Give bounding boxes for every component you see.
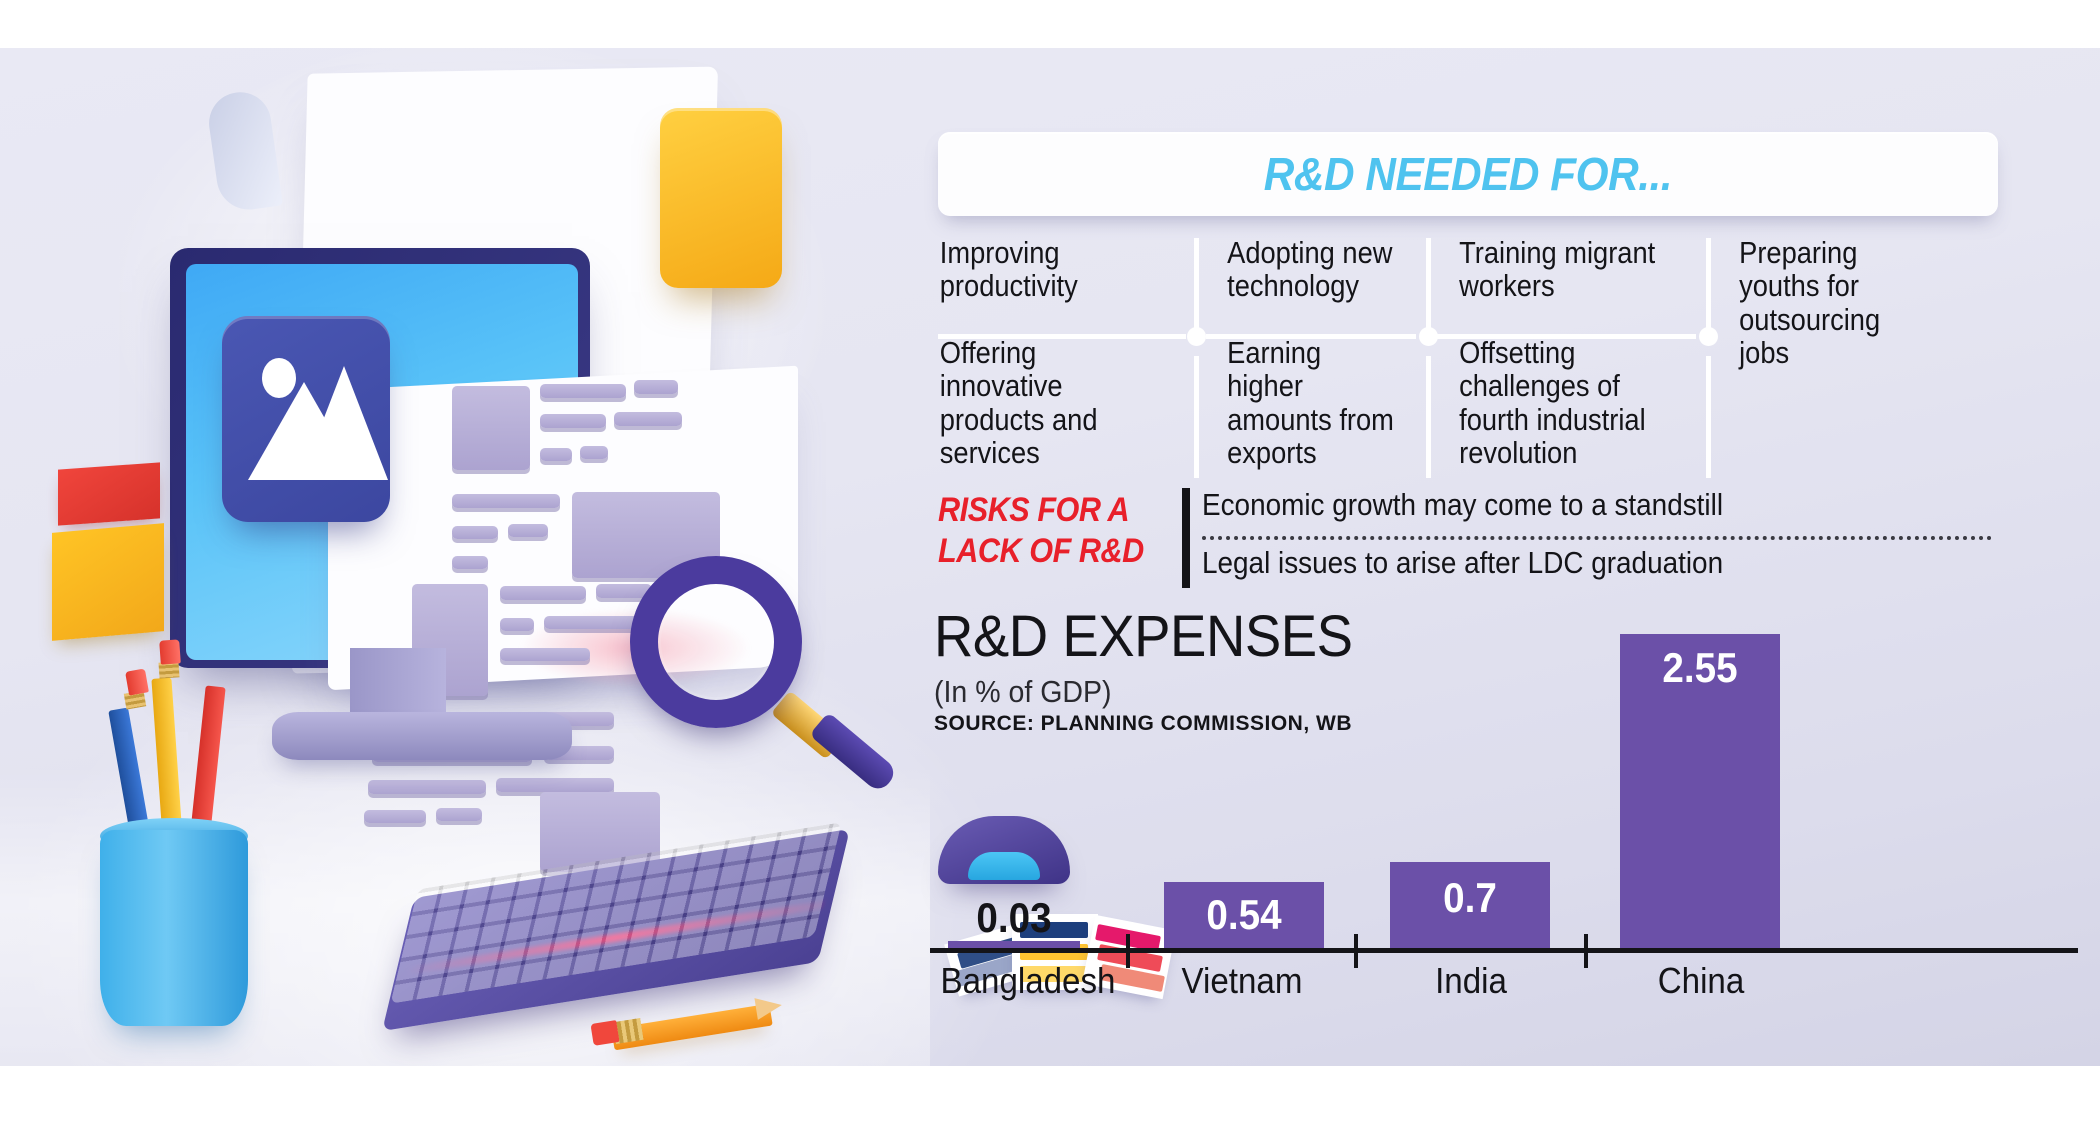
grid-divider-vertical — [1194, 238, 1199, 334]
grid-divider-vertical — [1426, 356, 1431, 478]
bar-value-china: 2.55 — [1626, 644, 1773, 692]
risks-heading: RISKS FOR A LACK OF R&D — [938, 490, 1154, 573]
doc-text-block — [452, 556, 488, 569]
rnd-expenses-chart: 0.03 0.54 0.7 2.55 Bangladesh Viet — [930, 608, 2100, 1058]
doc-text-block — [496, 778, 614, 792]
doc-text-block — [436, 808, 482, 821]
grid-divider-vertical — [1194, 356, 1199, 478]
doc-text-block — [500, 648, 590, 661]
grid-divider-vertical — [1706, 356, 1711, 478]
title-card: R&D NEEDED FOR... — [938, 132, 1998, 216]
need-item-earning-higher-exports: Earning higher amounts from exports — [1206, 334, 1410, 482]
content-column: R&D NEEDED FOR... Improving productivity… — [930, 48, 2100, 1066]
need-item-training-migrant-workers: Training migrant workers — [1438, 234, 1684, 334]
sticky-note-icon-yellow-left — [52, 523, 164, 641]
doc-text-block — [368, 780, 486, 794]
doc-text-block — [614, 412, 682, 426]
chart-source: SOURCE: PLANNING COMMISSION, WB — [934, 712, 1352, 736]
doc-text-block — [540, 384, 626, 398]
axis-tick — [1584, 934, 1588, 968]
grid-divider-horizontal — [938, 334, 1186, 339]
grid-junction-dot — [1419, 327, 1438, 346]
image-sun-glyph — [262, 358, 296, 398]
infographic-canvas: R&D NEEDED FOR... Improving productivity… — [0, 0, 2100, 1148]
doc-text-block — [500, 618, 534, 631]
grid-junction-dot — [1699, 327, 1718, 346]
grid-divider-vertical — [1426, 238, 1431, 334]
rnd-illustration — [0, 48, 930, 1066]
grid-divider-horizontal — [1206, 334, 1416, 339]
category-label-vietnam: Vietnam — [1139, 960, 1345, 1002]
category-label-china: China — [1597, 960, 1805, 1002]
sticky-note-icon-red — [58, 462, 160, 525]
paper-curl — [205, 88, 283, 213]
rnd-needed-grid: Improving productivity Adopting new tech… — [938, 234, 2038, 482]
doc-text-block — [500, 586, 586, 600]
axis-tick — [1126, 934, 1130, 968]
grid-divider-horizontal — [1436, 334, 1696, 339]
grid-junction-dot — [1187, 327, 1206, 346]
image-mountain-glyph-2 — [300, 366, 388, 480]
doc-text-block — [452, 526, 498, 539]
magnifier-icon — [630, 556, 802, 728]
pencil-eraser — [159, 639, 181, 664]
pencil-cup-icon — [100, 830, 248, 1026]
risks-section: RISKS FOR A LACK OF R&D Economic growth … — [930, 488, 2060, 592]
chart-subtitle: (In % of GDP) — [934, 674, 1112, 710]
doc-text-block — [452, 386, 530, 470]
monitor-base — [272, 712, 572, 760]
risk-item: Legal issues to arise after LDC graduati… — [1202, 546, 1967, 588]
pencil-tip — [754, 994, 783, 1020]
need-item-preparing-youths: Preparing youths for outsourcing jobs — [1718, 234, 1922, 334]
need-item-offsetting-challenges: Offsetting challenges of fourth industri… — [1438, 334, 1684, 482]
category-label-india: India — [1367, 960, 1575, 1002]
risk-dotted-separator — [1202, 536, 1992, 540]
axis-tick — [1354, 934, 1358, 968]
risks-divider-bar — [1182, 488, 1190, 588]
sticky-note-icon-yellow-top — [660, 108, 782, 288]
bar-bangladesh — [948, 941, 1080, 948]
need-item-improving-productivity: Improving productivity — [938, 234, 1174, 334]
page-title: R&D NEEDED FOR... — [1264, 147, 1672, 201]
doc-text-block — [452, 494, 560, 508]
bar-value-vietnam: 0.54 — [1170, 891, 1317, 939]
doc-text-block — [634, 380, 678, 394]
doc-text-block — [580, 446, 608, 459]
pencil-eraser — [590, 1020, 619, 1046]
doc-text-block — [540, 414, 606, 428]
risks-list: Economic growth may come to a standstill… — [1202, 488, 2052, 588]
bar-value-bangladesh: 0.03 — [953, 894, 1074, 942]
risk-item: Economic growth may come to a standstill — [1202, 488, 1967, 530]
doc-text-block — [364, 810, 426, 823]
infographic-panel: R&D NEEDED FOR... Improving productivity… — [0, 48, 2100, 1066]
doc-text-block — [508, 524, 548, 537]
chart-baseline-axis — [930, 948, 2078, 953]
pencil-eraser — [125, 668, 149, 695]
grid-divider-vertical — [1706, 238, 1711, 334]
need-item-offering-innovative-products: Offering innovative products and service… — [938, 334, 1174, 482]
category-label-bangladesh: Bangladesh — [938, 960, 1118, 1002]
bar-value-india: 0.7 — [1396, 874, 1543, 922]
doc-text-block — [540, 448, 572, 461]
chart-title: R&D EXPENSES — [934, 608, 1353, 666]
need-item-adopting-new-technology: Adopting new technology — [1206, 234, 1410, 334]
